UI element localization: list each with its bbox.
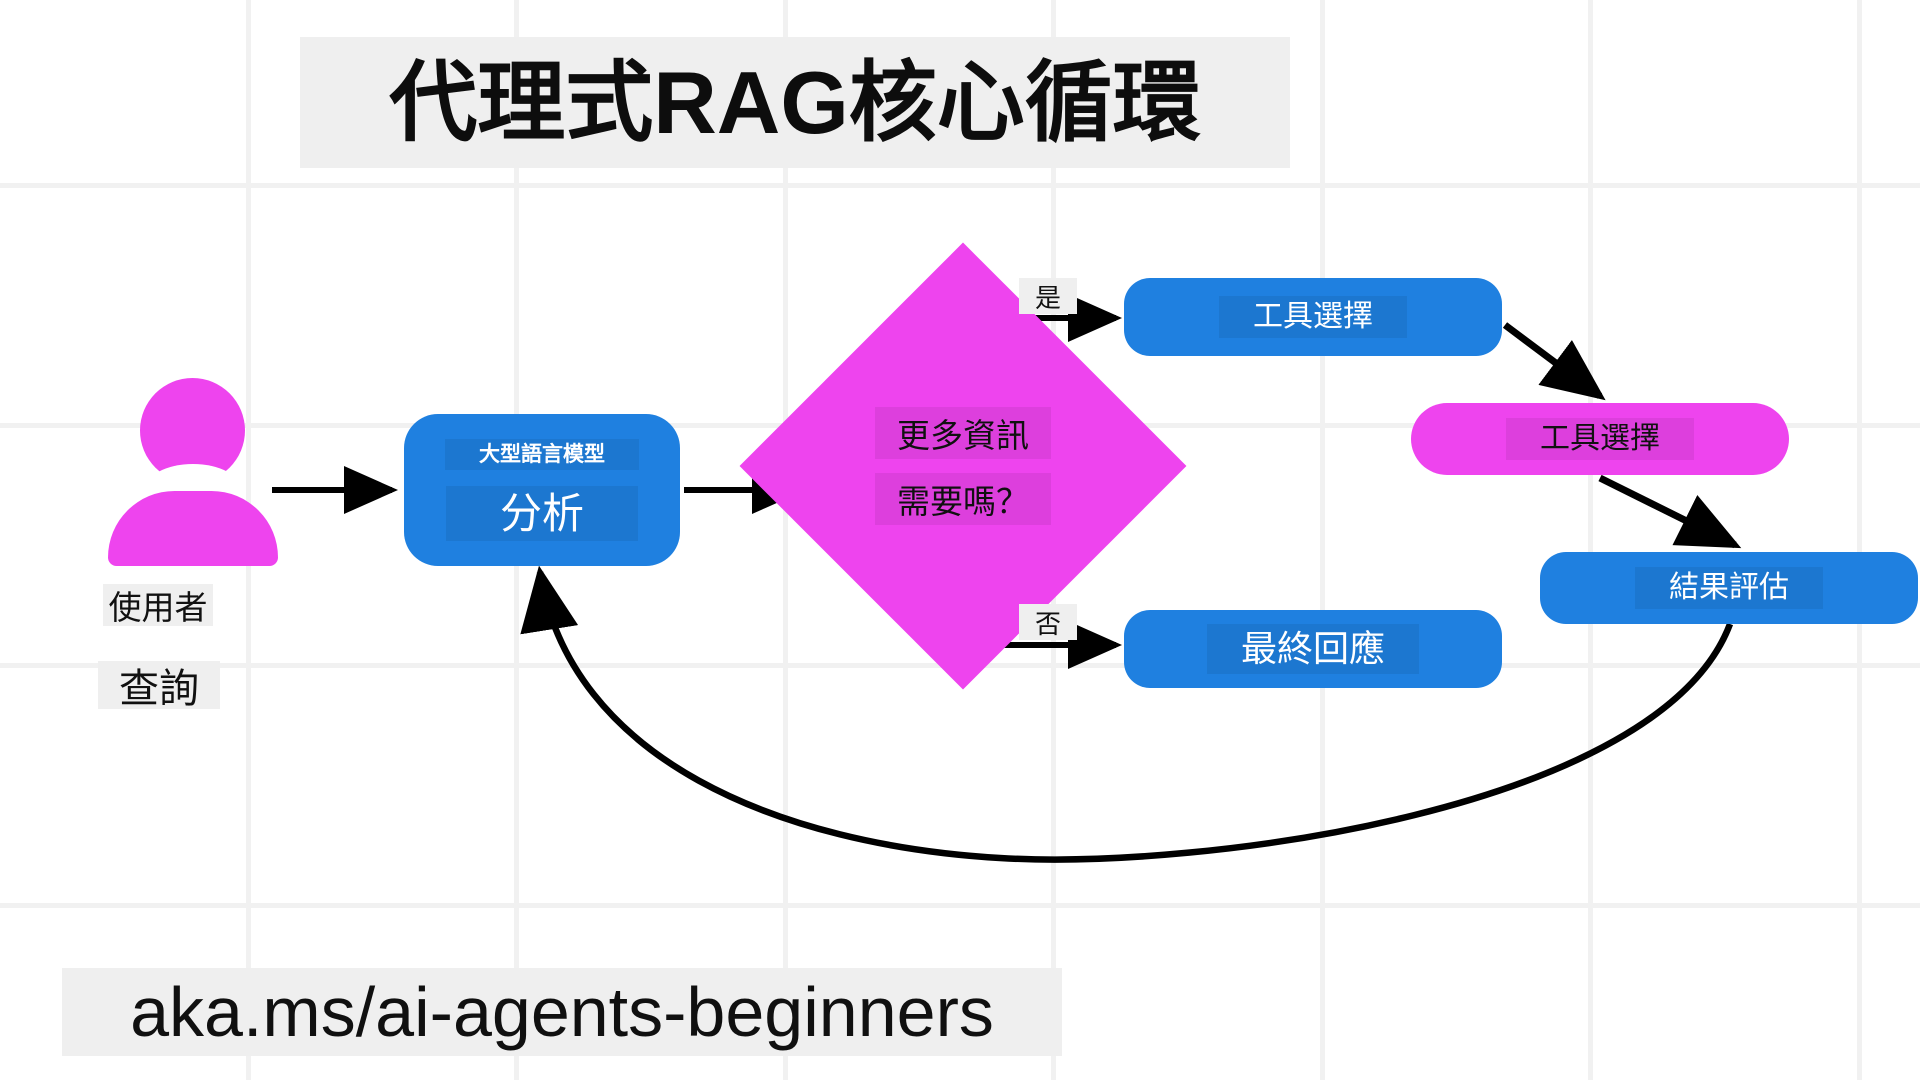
decision-label-group: 更多資訊 需要嗎？ [805, 308, 1121, 624]
node-result-evaluation-label: 結果評估 [1635, 567, 1823, 610]
node-llm-analysis[interactable]: 大型語言模型 分析 [404, 414, 680, 566]
node-llm-label: 分析 [446, 486, 638, 541]
footer-url[interactable]: aka.ms/ai-agents-beginners [62, 968, 1062, 1056]
decision-label-line2: 需要嗎？ [875, 473, 1051, 525]
grid-line-vertical [1320, 0, 1325, 1080]
edge-label-yes-text: 是 [1035, 278, 1061, 315]
grid-line-horizontal [0, 903, 1920, 908]
user-body-shape [108, 491, 278, 566]
actor-label-query-text: 查詢 [119, 656, 199, 714]
node-tool-execution-label: 工具選擇 [1506, 418, 1694, 461]
actor-label-user: 使用者 [103, 584, 213, 626]
page-title-text: 代理式RAG核心循環 [389, 59, 1201, 147]
node-final-response[interactable]: 最終回應 [1124, 610, 1502, 688]
user-person-icon [108, 378, 278, 566]
edge-toolexec-to-resulteval [1600, 478, 1735, 545]
actor-label-query: 查詢 [98, 661, 220, 709]
actor-label-user-text: 使用者 [109, 581, 208, 629]
node-llm-small-label: 大型語言模型 [445, 439, 639, 471]
node-final-response-label: 最終回應 [1207, 624, 1419, 674]
node-decision-more-info[interactable]: 更多資訊 需要嗎？ [805, 308, 1121, 624]
grid-line-vertical [1857, 0, 1862, 1080]
node-tool-selection[interactable]: 工具選擇 [1124, 278, 1502, 356]
node-result-evaluation[interactable]: 結果評估 [1540, 552, 1918, 624]
edge-label-no: 否 [1019, 604, 1077, 640]
edge-label-no-text: 否 [1035, 604, 1061, 641]
node-tool-selection-label: 工具選擇 [1219, 296, 1407, 339]
grid-line-vertical [1588, 0, 1593, 1080]
decision-label-line1: 更多資訊 [875, 407, 1051, 459]
page-title: 代理式RAG核心循環 [300, 37, 1290, 168]
diagram-canvas: 代理式RAG核心循環 使用者 查詢 大型語言模型 分析 更多資訊 需要嗎？ 是 … [0, 0, 1920, 1080]
edge-label-yes: 是 [1019, 278, 1077, 314]
node-tool-execution[interactable]: 工具選擇 [1411, 403, 1789, 475]
grid-line-horizontal [0, 183, 1920, 188]
footer-url-text: aka.ms/ai-agents-beginners [130, 977, 994, 1047]
edge-toolselect-to-toolexec [1505, 325, 1600, 396]
